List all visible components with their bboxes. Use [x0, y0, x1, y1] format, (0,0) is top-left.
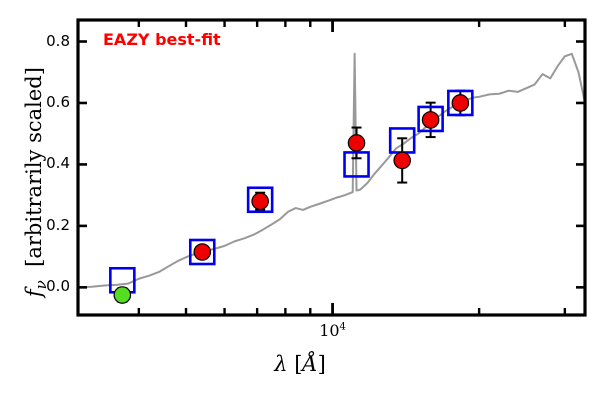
y-tick-label: 0.8: [24, 32, 70, 50]
y-axis-label: fν [arbitrarily scaled]: [22, 52, 50, 312]
eazy-best-fit-annotation: EAZY best-fit: [103, 30, 221, 49]
observed-photometry-points: [114, 95, 468, 303]
plot-canvas: [0, 0, 600, 400]
y-tick-label: 0.4: [24, 154, 70, 172]
y-tick-label: 0.2: [24, 216, 70, 234]
model-photometry-squares: [110, 91, 472, 292]
y-tick-label: 0.6: [24, 93, 70, 111]
axes-frame: [78, 20, 585, 315]
best-fit-template-curve: [78, 54, 585, 288]
x-axis-label: λ [Å]: [0, 352, 600, 376]
eazy-sed-figure: EAZY best-fit fν [arbitrarily scaled] λ …: [0, 0, 600, 400]
photometry-errorbars: [117, 91, 465, 302]
y-tick-label: 0.0: [24, 277, 70, 295]
x-tick-label-10e4: 104: [298, 321, 368, 340]
